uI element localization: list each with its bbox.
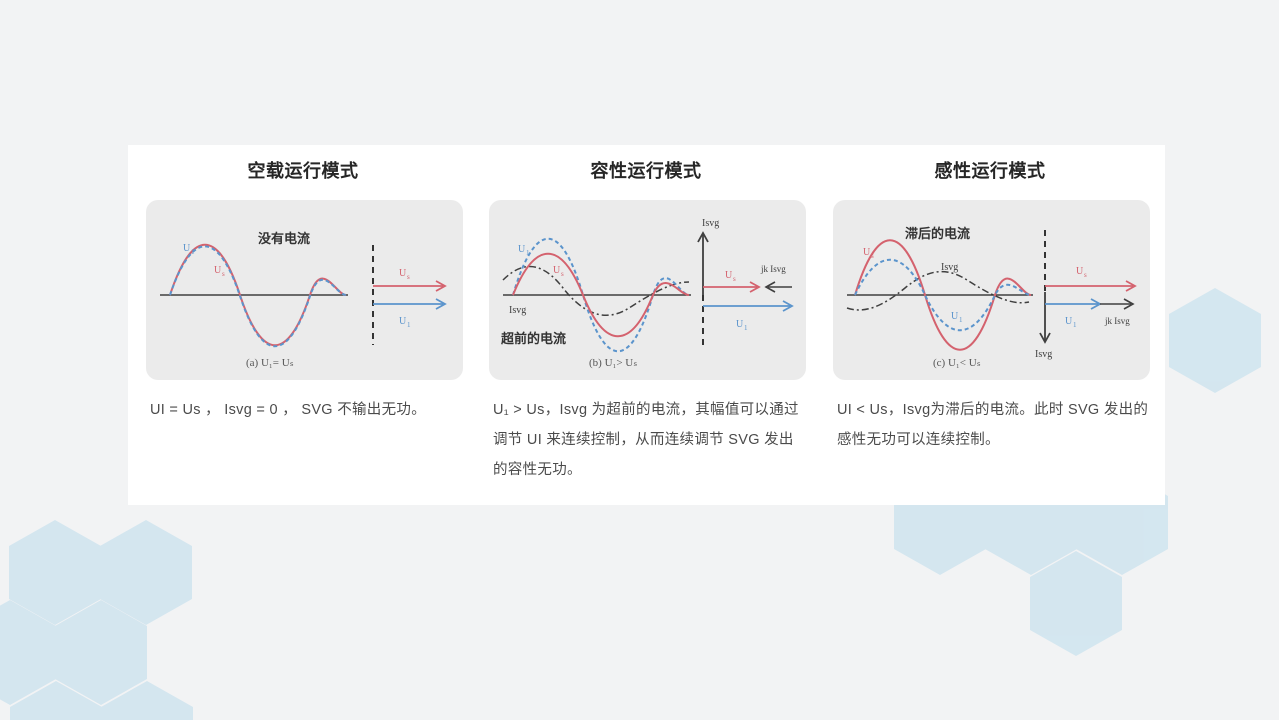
wave-label-us-sub: s — [871, 252, 874, 260]
vector-label-u1-sub: 1 — [1073, 321, 1077, 329]
wave-label-u1-sub: 1 — [959, 316, 963, 324]
vector-label-u1: U — [736, 319, 744, 330]
panel-title-inductive: 感性运行模式 — [825, 157, 1155, 183]
description-inductive: UI < Us，Isvg为滞后的电流。此时 SVG 发出的感性无功可以连续控制。 — [837, 395, 1149, 455]
vector-axis-label-isvg: Isvg — [702, 218, 719, 229]
vector-label-u1-sub: 1 — [744, 324, 748, 332]
vector-label-jkisvg: jk Isvg — [760, 264, 786, 274]
wave-label-u1: U — [518, 244, 526, 255]
wave-label-u1: U — [183, 243, 191, 254]
wave-label-u1-sub: 1 — [191, 248, 195, 256]
figure-inductive: U s U 1 Isvg 滞后的电流 Isvg jk Isvg U — [833, 200, 1150, 380]
vector-label-us-sub: s — [407, 273, 410, 281]
figure-caption-a: (a) U₁= Uₛ — [246, 357, 294, 369]
wave-isvg — [847, 272, 1029, 310]
vector-label-us-sub: s — [733, 275, 736, 283]
description-text-inductive: UI < Us，Isvg为滞后的电流。此时 SVG 发出的感性无功可以连续控制。 — [837, 402, 1148, 448]
vector-label-u1: U — [399, 316, 407, 327]
panel-capacitive: 容性运行模式 U 1 U s Isvg 超前的电流 Isvg — [481, 145, 811, 505]
wave-label-isvg: Isvg — [941, 262, 958, 273]
vector-label-u1-sub: 1 — [407, 321, 411, 329]
figure-capacitive: U 1 U s Isvg 超前的电流 Isvg jk Isvg U — [489, 200, 806, 380]
wave-label-isvg: Isvg — [509, 305, 526, 316]
panel-title-capacitive: 容性运行模式 — [481, 157, 811, 183]
slide-card: 空载运行模式 U 1 U s 没有电流 U — [128, 145, 1165, 505]
vector-label-us-sub: s — [1084, 271, 1087, 279]
wave-label-us-sub: s — [561, 270, 564, 278]
wave-label-us: U — [863, 247, 871, 258]
panel-title-no-load: 空载运行模式 — [138, 157, 468, 183]
wave-label-us: U — [553, 265, 561, 276]
figure-no-load: U 1 U s 没有电流 U s U 1 (a) U₁= Uₛ — [146, 200, 463, 380]
description-text-capacitive: U₁ > Us，Isvg 为超前的电流，其幅值可以通过调节 UI 来连续控制，从… — [493, 402, 799, 478]
vector-label-u1: U — [1065, 316, 1073, 327]
vector-label-us: U — [399, 268, 407, 279]
description-text-no-load: UI = Us ， Isvg = 0 ， SVG 不输出无功。 — [150, 402, 426, 418]
figure-inplot-label: 超前的电流 — [501, 331, 566, 346]
figure-caption-c: (c) U₁< Uₛ — [933, 357, 981, 369]
panel-inductive: 感性运行模式 U s U 1 Isvg 滞后的电流 Isvg — [825, 145, 1155, 505]
description-no-load: UI = Us ， Isvg = 0 ， SVG 不输出无功。 — [150, 395, 462, 425]
waveform-chart-no-load: U 1 U s 没有电流 U s U 1 (a) U₁= Uₛ — [146, 200, 463, 380]
vector-label-jkisvg: jk Isvg — [1104, 316, 1130, 326]
vector-axis-label-isvg: Isvg — [1035, 349, 1052, 360]
waveform-chart-inductive: U s U 1 Isvg 滞后的电流 Isvg jk Isvg U — [833, 200, 1150, 380]
wave-label-u1: U — [951, 311, 959, 322]
wave-label-us: U — [214, 265, 222, 276]
wave-label-us-sub: s — [222, 270, 225, 278]
wave-label-u1-sub: 1 — [526, 249, 530, 257]
figure-inplot-label: 没有电流 — [258, 231, 310, 246]
description-capacitive: U₁ > Us，Isvg 为超前的电流，其幅值可以通过调节 UI 来连续控制，从… — [493, 395, 805, 485]
figure-caption-b: (b) U₁> Uₛ — [589, 357, 637, 369]
wave-u1 — [170, 246, 346, 346]
vector-label-us: U — [725, 270, 733, 281]
panel-no-load: 空载运行模式 U 1 U s 没有电流 U — [138, 145, 468, 505]
figure-inplot-label: 滞后的电流 — [905, 226, 970, 241]
vector-label-us: U — [1076, 266, 1084, 277]
waveform-chart-capacitive: U 1 U s Isvg 超前的电流 Isvg jk Isvg U — [489, 200, 806, 380]
wave-isvg — [503, 267, 689, 316]
